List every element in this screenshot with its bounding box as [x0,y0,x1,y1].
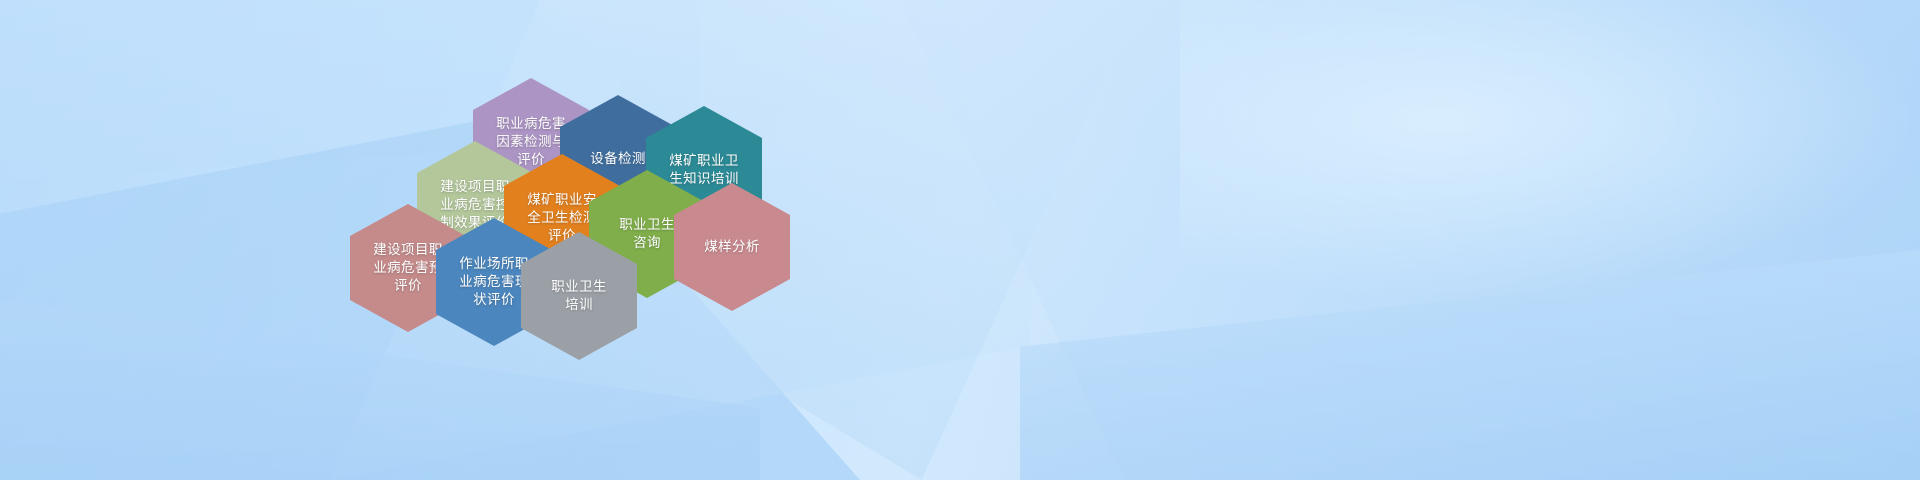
hexagon-tile-label: 职业卫生咨询 [619,216,675,252]
person-photo [995,0,1535,480]
hexagon-tile-label: 设备检测 [590,150,646,168]
service-hexagon-cluster: 职业病危害因素检测与评价设备检测煤矿职业卫生知识培训建设项目职业病危害控制效果评… [0,0,960,480]
hexagon-tile-label: 作业场所职业病危害现状评价 [459,255,529,309]
hexagon-tile-label: 建设项目职业病危害预评价 [373,241,443,295]
hexagon-tile-label: 煤矿职业卫生知识培训 [669,152,739,188]
service-hero-banner: 职业病危害因素检测与评价设备检测煤矿职业卫生知识培训建设项目职业病危害控制效果评… [0,0,1920,480]
hexagon-tile-label: 职业卫生培训 [551,278,607,314]
hexagon-tile-label: 煤样分析 [704,238,760,256]
